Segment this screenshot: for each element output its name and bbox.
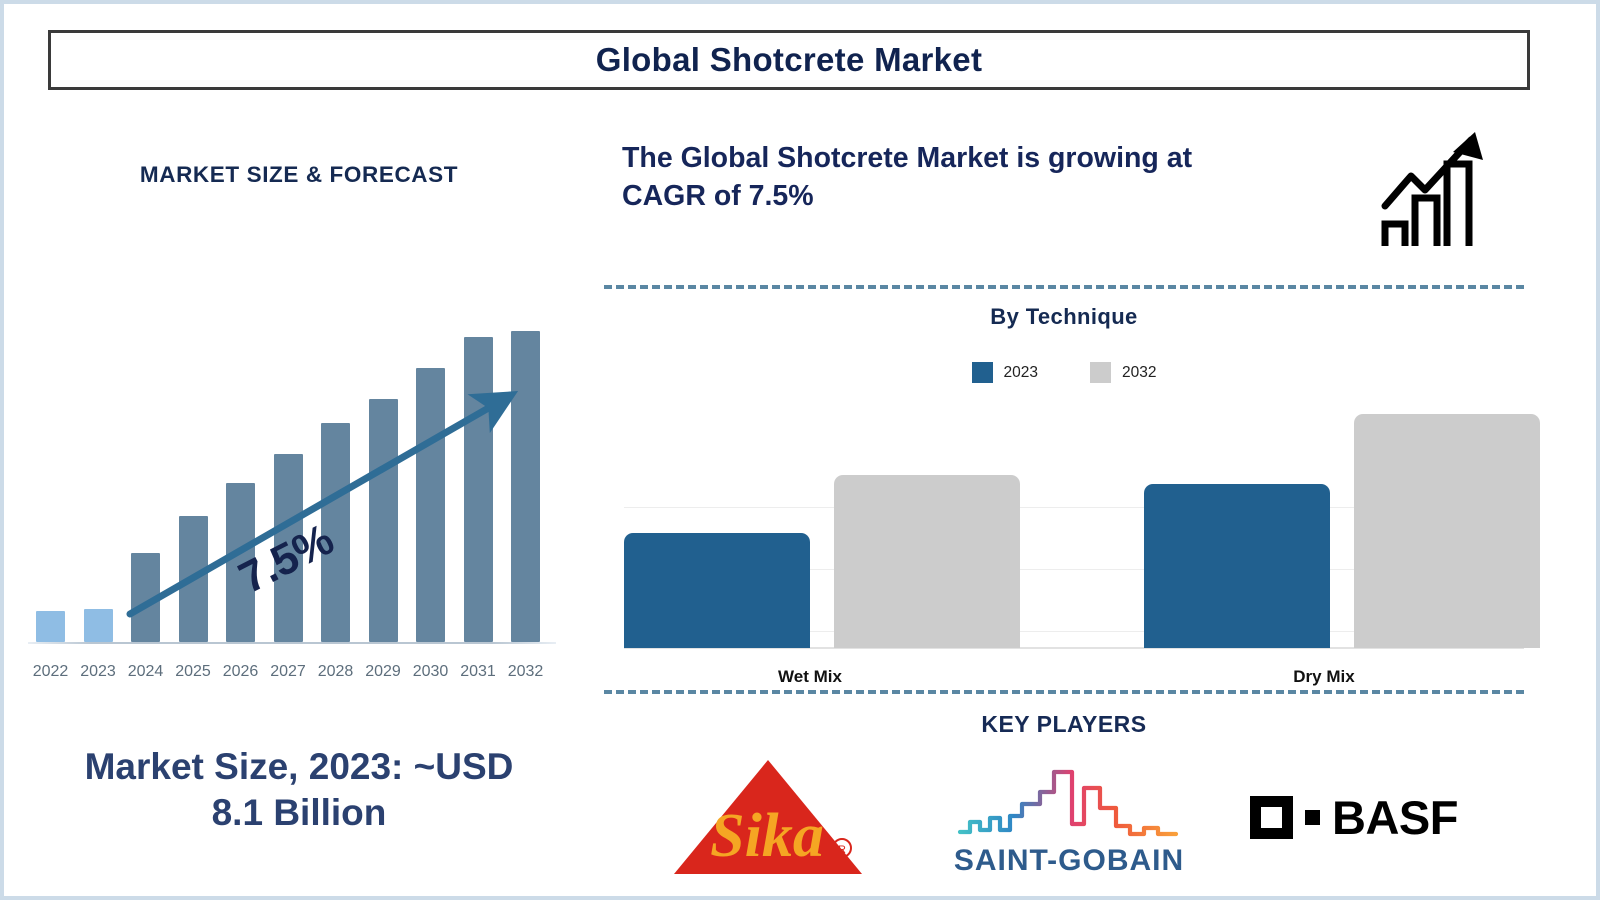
key-players-title: KEY PLAYERS: [604, 711, 1524, 738]
divider-top: [604, 285, 1524, 289]
divider-bottom: [604, 690, 1524, 694]
technique-bar-wet-mix-2032: [834, 475, 1020, 648]
right-panel: The Global Shotcrete Market is growing a…: [604, 104, 1534, 884]
legend-item-2032: 2032: [1090, 362, 1156, 383]
technique-bar-dry-mix-2032: [1354, 414, 1540, 648]
growth-bar: [416, 368, 445, 642]
market-size-statement: Market Size, 2023: ~USD 8.1 Billion: [14, 744, 584, 836]
legend-label-2023: 2023: [1004, 364, 1038, 382]
growth-year-label: 2024: [122, 663, 170, 681]
logo-saint-gobain: SAINT-GOBAIN: [944, 752, 1194, 882]
legend-swatch-2023: [972, 362, 993, 383]
svg-text:SAINT-GOBAIN: SAINT-GOBAIN: [954, 844, 1184, 877]
growth-arrow-bars-icon: [1379, 128, 1509, 258]
market-size-line-1: Market Size, 2023: ~USD: [85, 746, 514, 787]
infographic-root: Global Shotcrete Market MARKET SIZE & FO…: [0, 0, 1600, 900]
growth-year-label: 2030: [407, 663, 455, 681]
saint-gobain-logo-icon: SAINT-GOBAIN: [944, 752, 1194, 882]
growth-bar: [179, 516, 208, 642]
basf-mark: BASF: [1250, 794, 1458, 841]
basf-square-icon: [1250, 796, 1293, 839]
growth-bar: [464, 337, 493, 642]
growth-bar: [131, 553, 160, 642]
svg-text:Sika: Sika: [710, 802, 824, 870]
growth-year-label: 2026: [217, 663, 265, 681]
growth-bar: [511, 331, 540, 642]
growth-year-label: 2029: [359, 663, 407, 681]
left-panel: MARKET SIZE & FORECAST 20222023202420252…: [4, 104, 594, 884]
logo-sika: Sika R: [666, 752, 896, 882]
key-players-logos: Sika R: [604, 752, 1524, 882]
growth-year-label: 2022: [27, 663, 75, 681]
page-title: Global Shotcrete Market: [596, 41, 983, 79]
category-label-wet-mix: Wet Mix: [680, 667, 940, 687]
by-technique-chart: [624, 399, 1524, 649]
market-size-forecast-chart: 2022202320242025202620272028202920302031…: [22, 254, 567, 699]
growth-bar: [369, 399, 398, 642]
growth-year-label: 2032: [502, 663, 550, 681]
category-label-dry-mix: Dry Mix: [1194, 667, 1454, 687]
legend-swatch-2032: [1090, 362, 1111, 383]
basf-wordmark: BASF: [1332, 794, 1458, 841]
logo-basf: BASF: [1224, 752, 1484, 882]
cagr-headline: The Global Shotcrete Market is growing a…: [622, 140, 1382, 215]
growth-year-label: 2031: [454, 663, 502, 681]
growth-year-label: 2023: [74, 663, 122, 681]
sika-logo-icon: Sika R: [666, 752, 896, 882]
market-size-line-2: 8.1 Billion: [212, 792, 387, 833]
headline-line-1: The Global Shotcrete Market is growing a…: [622, 142, 1192, 174]
growth-year-label: 2025: [169, 663, 217, 681]
legend-item-2023: 2023: [972, 362, 1038, 383]
growth-bar: [36, 611, 65, 642]
technique-bar-dry-mix-2023: [1144, 484, 1330, 648]
growth-year-label: 2027: [264, 663, 312, 681]
by-technique-title: By Technique: [604, 304, 1524, 330]
legend-label-2032: 2032: [1122, 364, 1156, 382]
headline-line-2: CAGR of 7.5%: [622, 180, 814, 212]
basf-dot-icon: [1305, 810, 1320, 825]
svg-text:R: R: [838, 844, 846, 856]
growth-year-label: 2028: [312, 663, 360, 681]
title-box: Global Shotcrete Market: [48, 30, 1530, 90]
technique-legend: 2023 2032: [604, 362, 1524, 383]
chart-baseline: [28, 642, 556, 644]
market-size-forecast-heading: MARKET SIZE & FORECAST: [4, 162, 594, 188]
technique-bar-wet-mix-2023: [624, 533, 810, 648]
growth-bar: [84, 609, 113, 642]
